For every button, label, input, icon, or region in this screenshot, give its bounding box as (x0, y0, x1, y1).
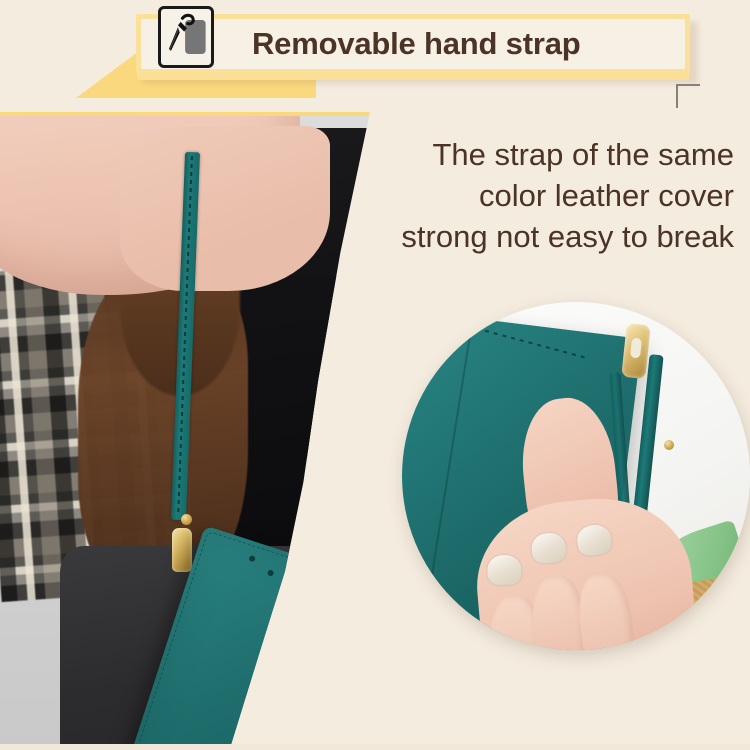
page-title: Removable hand strap (252, 26, 580, 62)
description-line-2: color leather cover (334, 175, 734, 216)
hand-strap-phone-icon (158, 6, 214, 68)
hand (120, 126, 330, 291)
fingernail-1 (487, 555, 522, 586)
fingernail-2 (531, 532, 567, 564)
fingernail-3 (576, 523, 613, 557)
strap-rivet-closeup (664, 440, 674, 450)
banner-frame: Removable hand strap (136, 14, 690, 74)
description-line-1: The strap of the same (334, 134, 734, 175)
description-text: The strap of the same color leather cove… (334, 134, 734, 257)
header-banner: Removable hand strap (136, 14, 696, 80)
description-line-3: strong not easy to break (334, 216, 734, 257)
hand-holding-case-closeup-photo (402, 302, 750, 650)
finger-3 (574, 572, 640, 650)
bottom-edge (0, 744, 750, 750)
model-wearing-strap-photo (0, 112, 370, 750)
product-feature-slide: The strap of the same color leather cove… (0, 0, 750, 750)
photo-composition (0, 116, 370, 750)
case-fold-seam (419, 334, 471, 650)
corner-bracket (676, 84, 700, 108)
strap-rivet (181, 514, 192, 525)
gold-lobster-clasp (172, 528, 192, 572)
